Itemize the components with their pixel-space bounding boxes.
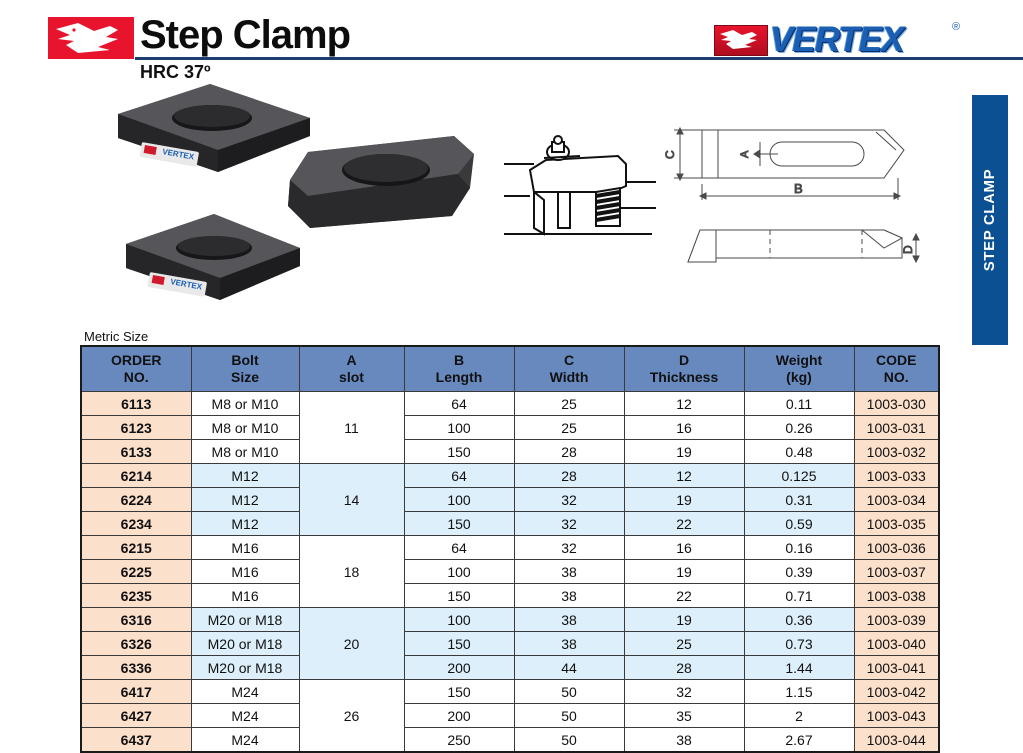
svg-text:D: D: [901, 245, 915, 254]
svg-text:B: B: [794, 181, 803, 196]
cell-b-length: 200: [404, 704, 514, 728]
cell-weight: 2: [744, 704, 854, 728]
cell-d-thickness: 16: [624, 416, 744, 440]
cell-weight: 2.67: [744, 728, 854, 753]
cell-code-no: 1003-036: [854, 536, 939, 560]
cell-a-slot: 20: [299, 608, 404, 680]
table-row: 6215M16186432160.161003-036: [81, 536, 939, 560]
cell-d-thickness: 38: [624, 728, 744, 753]
cell-code-no: 1003-040: [854, 632, 939, 656]
cell-code-no: 1003-037: [854, 560, 939, 584]
cell-c-width: 50: [514, 680, 624, 704]
cell-c-width: 28: [514, 464, 624, 488]
cell-a-slot: 14: [299, 464, 404, 536]
cell-weight: 0.16: [744, 536, 854, 560]
cell-bolt-size: M12: [191, 464, 299, 488]
svg-text:A: A: [739, 150, 751, 158]
technical-drawing: C A B D: [648, 98, 938, 283]
cell-bolt-size: M8 or M10: [191, 440, 299, 464]
cell-b-length: 100: [404, 608, 514, 632]
table-row: 6133M8 or M1015028190.481003-032: [81, 440, 939, 464]
cell-code-no: 1003-031: [854, 416, 939, 440]
cell-c-width: 32: [514, 488, 624, 512]
cell-weight: 0.31: [744, 488, 854, 512]
cell-code-no: 1003-030: [854, 392, 939, 416]
cell-weight: 0.71: [744, 584, 854, 608]
cell-order-no: 6417: [81, 680, 191, 704]
table-row: 6225M1610038190.391003-037: [81, 560, 939, 584]
product-photo-group: VERTEX VERTEX: [110, 80, 500, 325]
cell-c-width: 25: [514, 416, 624, 440]
cell-weight: 0.59: [744, 512, 854, 536]
cell-weight: 0.36: [744, 608, 854, 632]
cell-bolt-size: M24: [191, 704, 299, 728]
column-header-code-no: CODE NO.: [854, 346, 939, 392]
vertex-wordmark: VERTEX: [770, 19, 903, 61]
cell-d-thickness: 12: [624, 464, 744, 488]
cell-b-length: 250: [404, 728, 514, 753]
cell-bolt-size: M16: [191, 560, 299, 584]
cell-code-no: 1003-044: [854, 728, 939, 753]
column-header-weight: Weight (kg): [744, 346, 854, 392]
cell-d-thickness: 19: [624, 440, 744, 464]
page-header: Step Clamp HRC 37º VERTEX ®: [0, 0, 1023, 90]
cell-weight: 0.125: [744, 464, 854, 488]
table-caption: Metric Size: [84, 329, 148, 344]
table-row: 6235M1615038220.711003-038: [81, 584, 939, 608]
vertex-logo: VERTEX ®: [714, 20, 964, 62]
column-header-b-length: B Length: [404, 346, 514, 392]
cell-bolt-size: M16: [191, 536, 299, 560]
cell-code-no: 1003-032: [854, 440, 939, 464]
application-illustration: [500, 130, 660, 260]
cell-b-length: 150: [404, 512, 514, 536]
cell-d-thickness: 25: [624, 632, 744, 656]
column-header-bolt-size: Bolt Size: [191, 346, 299, 392]
registered-trademark-icon: ®: [952, 21, 960, 33]
cell-bolt-size: M24: [191, 728, 299, 753]
table-row: 6113M8 or M10116425120.111003-030: [81, 392, 939, 416]
cell-b-length: 100: [404, 416, 514, 440]
cell-b-length: 64: [404, 536, 514, 560]
table-row: 6417M242615050321.151003-042: [81, 680, 939, 704]
cell-c-width: 38: [514, 584, 624, 608]
cell-a-slot: 18: [299, 536, 404, 608]
cell-d-thickness: 19: [624, 560, 744, 584]
cell-bolt-size: M8 or M10: [191, 392, 299, 416]
cell-weight: 1.44: [744, 656, 854, 680]
cell-d-thickness: 32: [624, 680, 744, 704]
cell-order-no: 6427: [81, 704, 191, 728]
cell-code-no: 1003-039: [854, 608, 939, 632]
table-row: 6123M8 or M1010025160.261003-031: [81, 416, 939, 440]
cell-code-no: 1003-035: [854, 512, 939, 536]
cell-order-no: 6234: [81, 512, 191, 536]
specification-table: ORDER NO. Bolt Size A slot B Length C Wi…: [80, 345, 940, 753]
cell-d-thickness: 19: [624, 608, 744, 632]
cell-d-thickness: 16: [624, 536, 744, 560]
cell-b-length: 100: [404, 488, 514, 512]
table-header-row: ORDER NO. Bolt Size A slot B Length C Wi…: [81, 346, 939, 392]
column-header-d-thickness: D Thickness: [624, 346, 744, 392]
cell-order-no: 6133: [81, 440, 191, 464]
cell-c-width: 32: [514, 512, 624, 536]
cell-c-width: 50: [514, 704, 624, 728]
table-row: 6336M20 or M1820044281.441003-041: [81, 656, 939, 680]
cell-c-width: 25: [514, 392, 624, 416]
cell-bolt-size: M16: [191, 584, 299, 608]
cell-code-no: 1003-033: [854, 464, 939, 488]
cell-c-width: 50: [514, 728, 624, 753]
cell-d-thickness: 28: [624, 656, 744, 680]
cell-b-length: 150: [404, 680, 514, 704]
cell-weight: 0.39: [744, 560, 854, 584]
product-photo-clamp-bottom: VERTEX: [110, 208, 310, 328]
cell-order-no: 6316: [81, 608, 191, 632]
cell-weight: 1.15: [744, 680, 854, 704]
column-header-a-slot: A slot: [299, 346, 404, 392]
cell-order-no: 6336: [81, 656, 191, 680]
cell-b-length: 64: [404, 392, 514, 416]
cell-order-no: 6326: [81, 632, 191, 656]
table-row: 6427M24200503521003-043: [81, 704, 939, 728]
page-title: Step Clamp: [140, 13, 350, 57]
column-header-c-width: C Width: [514, 346, 624, 392]
cell-order-no: 6214: [81, 464, 191, 488]
eagle-icon: [48, 17, 134, 59]
cell-code-no: 1003-034: [854, 488, 939, 512]
cell-order-no: 6113: [81, 392, 191, 416]
cell-bolt-size: M8 or M10: [191, 416, 299, 440]
cell-weight: 0.48: [744, 440, 854, 464]
cell-d-thickness: 22: [624, 512, 744, 536]
cell-d-thickness: 12: [624, 392, 744, 416]
cell-code-no: 1003-038: [854, 584, 939, 608]
table-row: 6214M12146428120.1251003-033: [81, 464, 939, 488]
cell-c-width: 44: [514, 656, 624, 680]
cell-order-no: 6225: [81, 560, 191, 584]
cell-d-thickness: 22: [624, 584, 744, 608]
cell-b-length: 150: [404, 584, 514, 608]
cell-order-no: 6215: [81, 536, 191, 560]
cell-code-no: 1003-041: [854, 656, 939, 680]
cell-bolt-size: M20 or M18: [191, 656, 299, 680]
table-row: 6316M20 or M182010038190.361003-039: [81, 608, 939, 632]
cell-code-no: 1003-043: [854, 704, 939, 728]
cell-weight: 0.26: [744, 416, 854, 440]
cell-bolt-size: M20 or M18: [191, 632, 299, 656]
table-row: 6326M20 or M1815038250.731003-040: [81, 632, 939, 656]
cell-c-width: 28: [514, 440, 624, 464]
cell-order-no: 6123: [81, 416, 191, 440]
table-row: 6234M1215032220.591003-035: [81, 512, 939, 536]
cell-b-length: 200: [404, 656, 514, 680]
cell-b-length: 150: [404, 632, 514, 656]
cell-c-width: 38: [514, 608, 624, 632]
table-row: 6437M2425050382.671003-044: [81, 728, 939, 753]
cell-c-width: 38: [514, 560, 624, 584]
cell-c-width: 32: [514, 536, 624, 560]
svg-text:C: C: [663, 150, 677, 159]
cell-b-length: 64: [404, 464, 514, 488]
cell-b-length: 100: [404, 560, 514, 584]
cell-a-slot: 11: [299, 392, 404, 464]
side-tab-label: STEP CLAMP: [972, 95, 1008, 345]
cell-bolt-size: M12: [191, 512, 299, 536]
cell-bolt-size: M12: [191, 488, 299, 512]
cell-order-no: 6437: [81, 728, 191, 753]
eagle-icon: [714, 25, 768, 56]
cell-bolt-size: M20 or M18: [191, 608, 299, 632]
column-header-order-no: ORDER NO.: [81, 346, 191, 392]
cell-d-thickness: 19: [624, 488, 744, 512]
cell-c-width: 38: [514, 632, 624, 656]
cell-bolt-size: M24: [191, 680, 299, 704]
cell-code-no: 1003-042: [854, 680, 939, 704]
cell-weight: 0.11: [744, 392, 854, 416]
cell-weight: 0.73: [744, 632, 854, 656]
section-side-tab: STEP CLAMP: [972, 95, 1008, 345]
cell-order-no: 6235: [81, 584, 191, 608]
cell-b-length: 150: [404, 440, 514, 464]
table-row: 6224M1210032190.311003-034: [81, 488, 939, 512]
cell-order-no: 6224: [81, 488, 191, 512]
cell-a-slot: 26: [299, 680, 404, 753]
cell-d-thickness: 35: [624, 704, 744, 728]
